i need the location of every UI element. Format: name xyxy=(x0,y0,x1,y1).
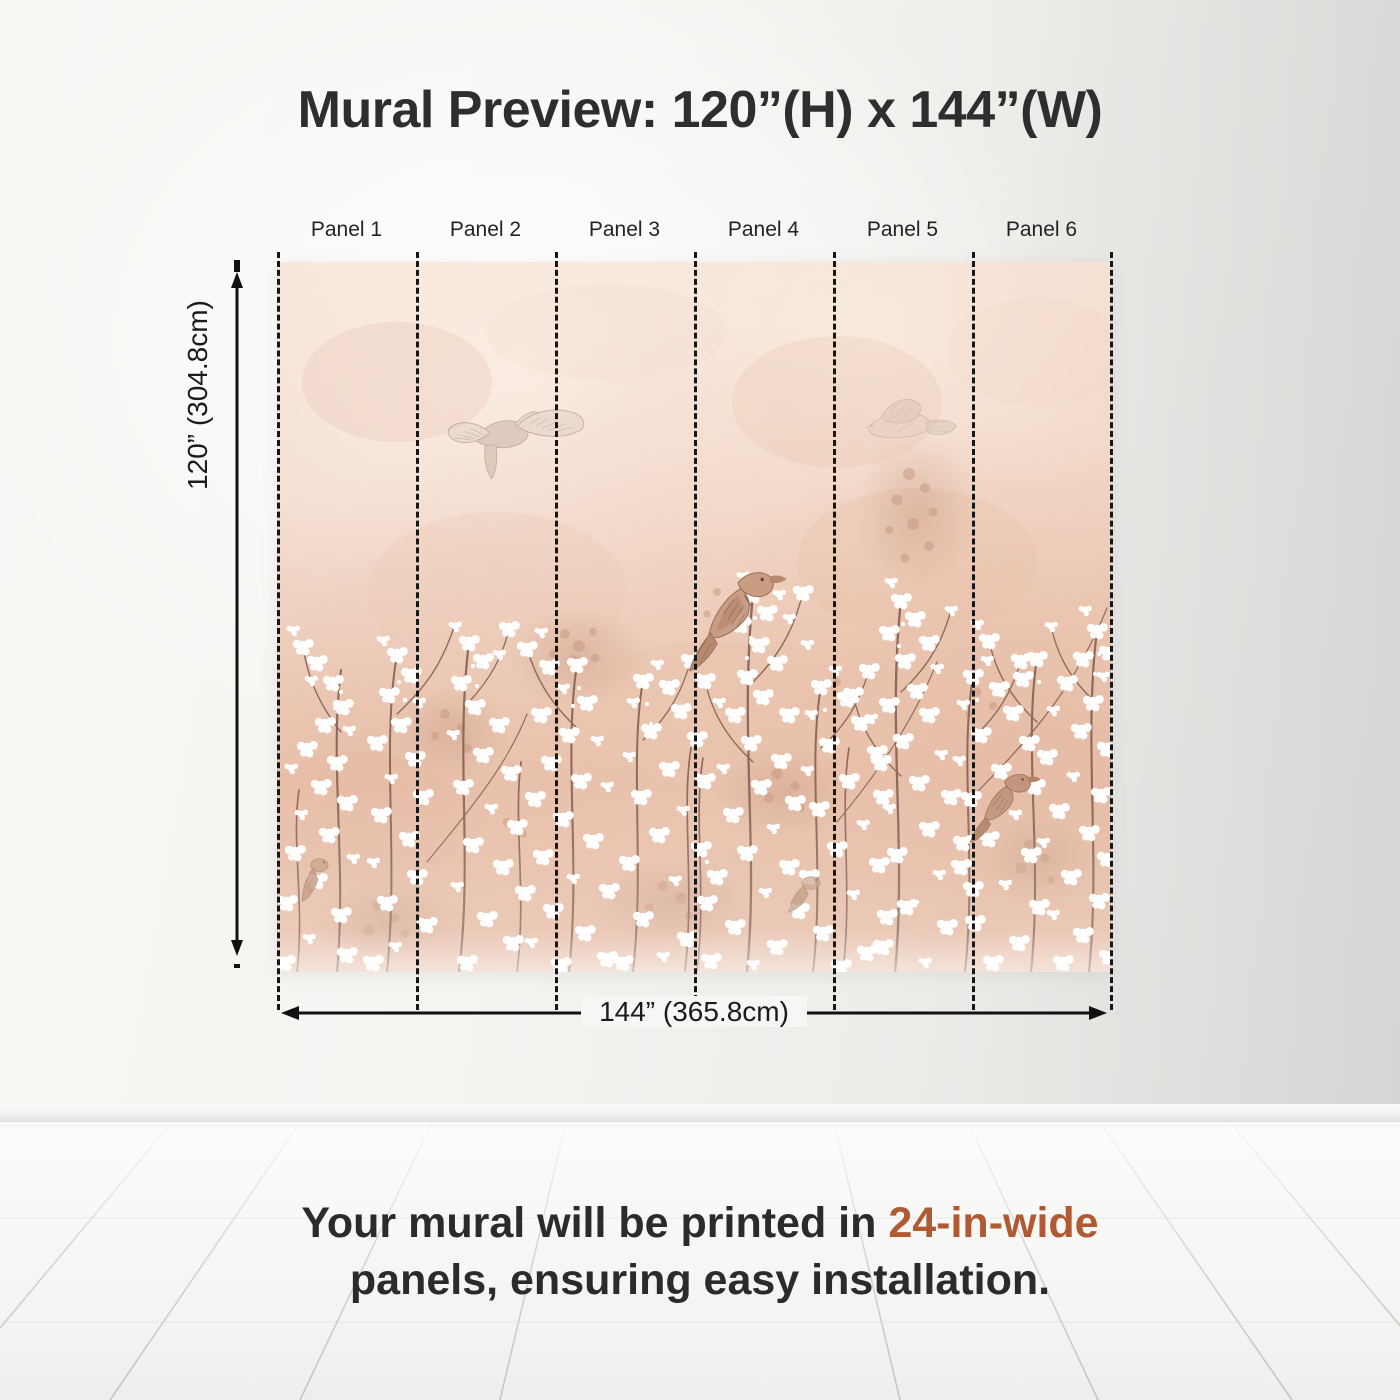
panel-divider-3 xyxy=(694,252,697,1010)
width-dimension-label: 144” (365.8cm) xyxy=(277,996,1111,1028)
mural-preview-stage: Panel 1 Panel 2 Panel 3 Panel 4 Panel 5 … xyxy=(0,0,1400,1122)
caption-line-1: Your mural will be printed in 24-in-wide xyxy=(0,1195,1400,1252)
panel-label-6: Panel 6 xyxy=(972,218,1111,242)
panel-label-5: Panel 5 xyxy=(833,218,972,242)
panel-label-2: Panel 2 xyxy=(416,218,555,242)
caption: Your mural will be printed in 24-in-wide… xyxy=(0,1195,1400,1309)
panel-label-4: Panel 4 xyxy=(694,218,833,242)
panel-label-1: Panel 1 xyxy=(277,218,416,242)
panel-divider-4 xyxy=(833,252,836,1010)
panel-label-3: Panel 3 xyxy=(555,218,694,242)
height-dimension-arrow xyxy=(229,258,245,970)
panel-divider-left-edge xyxy=(277,252,280,1010)
height-dimension-label: 120” (304.8cm) xyxy=(182,230,214,490)
panel-divider-1 xyxy=(416,252,419,1010)
caption-highlight: 24-in-wide xyxy=(888,1199,1098,1247)
panel-divider-right-edge xyxy=(1110,252,1113,1010)
panel-divider-5 xyxy=(972,252,975,1010)
caption-line-2: panels, ensuring easy installation. xyxy=(0,1252,1400,1309)
panel-divider-2 xyxy=(555,252,558,1010)
width-dimension-text: 144” (365.8cm) xyxy=(581,996,807,1027)
caption-line-1-prefix: Your mural will be printed in xyxy=(301,1199,888,1247)
